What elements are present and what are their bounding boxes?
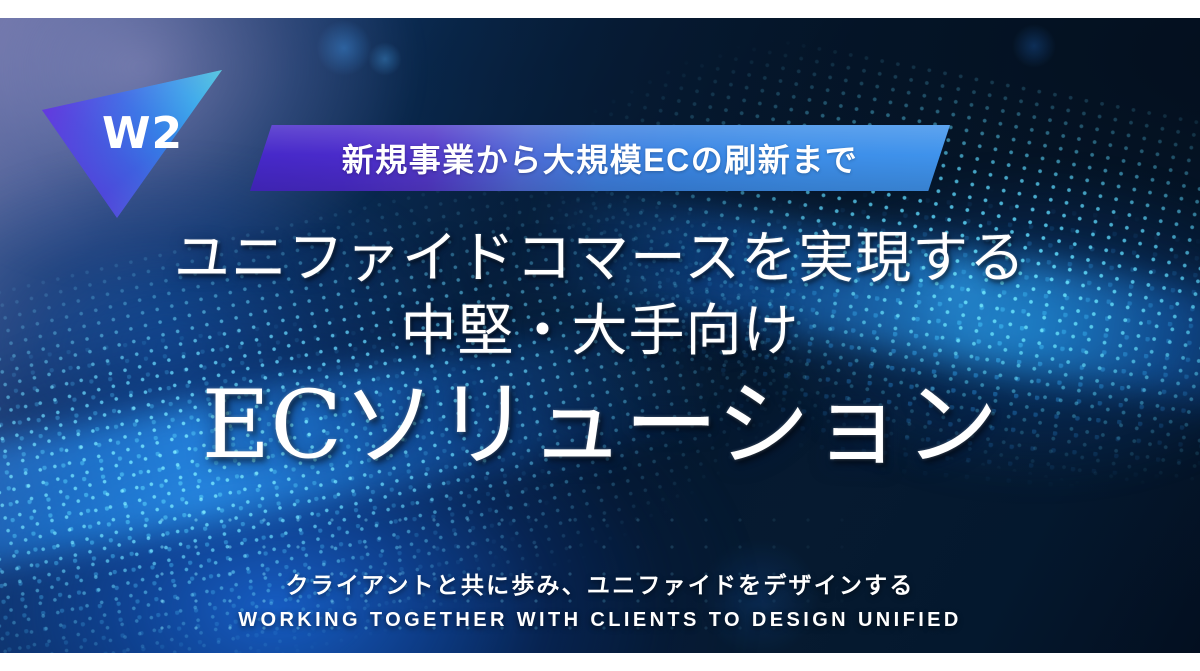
- hero-artwork: W2 新規事業から大規模ECの刷新まで ユニファイドコマースを実現する 中堅・大…: [0, 18, 1200, 653]
- top-right-blue-glow: [640, 138, 1200, 558]
- bottom-white-matte: [0, 653, 1200, 671]
- w2-wordmark: W2: [102, 112, 183, 156]
- eyebrow-ribbon: 新規事業から大規模ECの刷新まで: [250, 125, 950, 191]
- hero-banner: W2 新規事業から大規模ECの刷新まで ユニファイドコマースを実現する 中堅・大…: [0, 0, 1200, 671]
- w2-logo[interactable]: W2: [24, 40, 254, 240]
- eyebrow-text: 新規事業から大規模ECの刷新まで: [342, 135, 858, 181]
- top-white-matte: [0, 0, 1200, 18]
